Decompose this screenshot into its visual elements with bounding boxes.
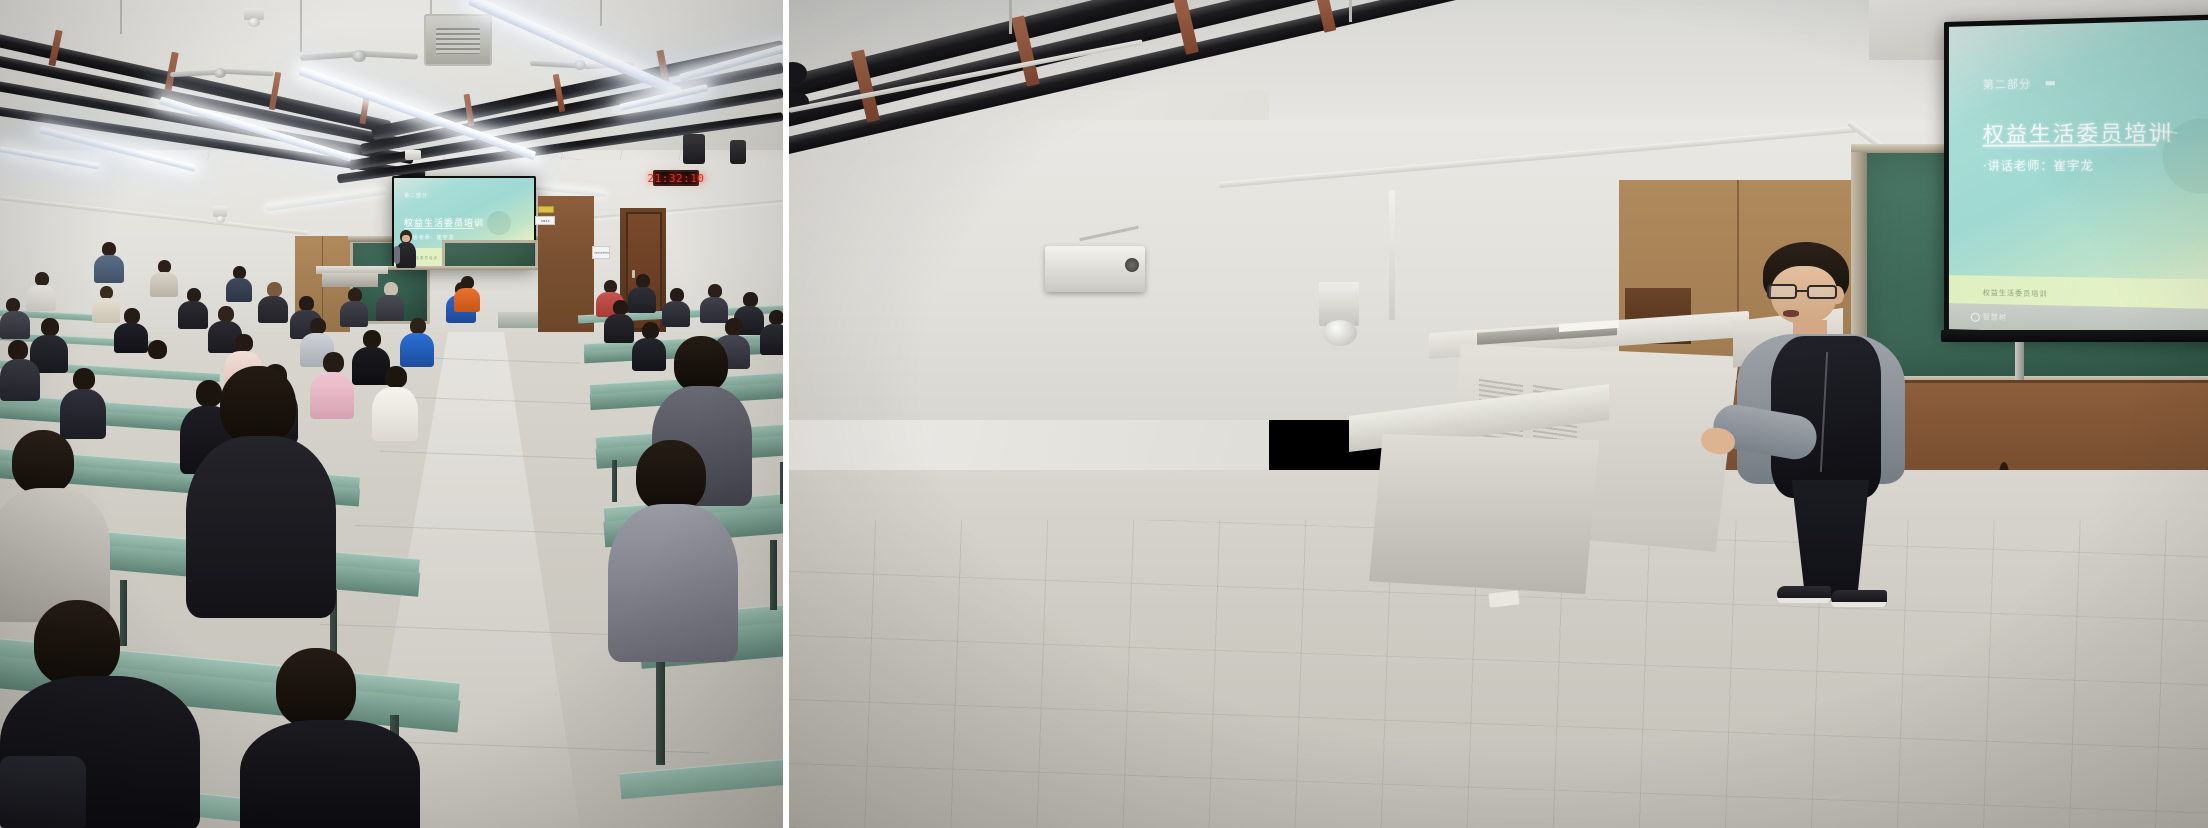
speaker-mouth: [1783, 310, 1799, 317]
fan-blade: [300, 51, 356, 61]
student-head: [410, 318, 426, 334]
student-head: [41, 318, 59, 336]
student-head: [363, 330, 381, 348]
student-body: [26, 285, 56, 311]
student: [662, 288, 690, 326]
camera-dome: [1323, 320, 1357, 346]
slide-bullet: ·讲话老师：崔宇龙: [1983, 156, 2094, 174]
student-head: [276, 648, 356, 728]
camera-dome: [248, 18, 260, 27]
wall-speaker: [683, 134, 705, 164]
hanger-rod: [1009, 0, 1012, 34]
fan-hub: [352, 50, 366, 62]
student-head: [299, 296, 314, 311]
fan-blade: [170, 70, 218, 78]
slide-footer-left: 权益生活委员培训: [1983, 288, 2048, 299]
desk-leg: [770, 540, 777, 610]
shoe-sole: [1831, 602, 1887, 607]
student: [226, 266, 252, 300]
student-head: [124, 308, 140, 324]
left-photo: 第二部分 权益生活委员培训 ·讲话老师：崔宇龙 权益生活委员培训 智慧树 多媒体…: [0, 0, 783, 828]
student-head: [220, 366, 296, 444]
student-foreground: [0, 430, 110, 620]
ceiling-fan: [170, 66, 274, 80]
projection-screen-frame: 第二部分 权益生活委员培训 ·讲话老师：崔宇龙 权益生活委员培训 智慧树: [1944, 12, 2208, 345]
backpack: [0, 756, 86, 828]
fan-hub: [574, 60, 586, 70]
podium-pedestal: [1369, 434, 1599, 594]
hanger-rod: [600, 0, 602, 26]
student-head: [148, 340, 167, 359]
student-head: [73, 368, 95, 390]
ceiling-fan: [300, 48, 420, 64]
student-body: [240, 720, 420, 828]
fan-blade: [224, 69, 274, 77]
front-console-body: [322, 273, 378, 287]
student-head: [8, 340, 28, 360]
presenter-face: [402, 235, 410, 242]
student-head: [725, 318, 743, 336]
desk-leg: [780, 462, 783, 504]
student-head: [102, 242, 116, 256]
slide-logo-icon: [1971, 313, 1980, 322]
speaker: [1719, 242, 1909, 562]
student: [700, 284, 728, 322]
fan-hub: [214, 68, 226, 78]
student-body: [340, 301, 368, 327]
student: [454, 276, 480, 310]
student-body: [760, 324, 783, 355]
student-body: [608, 504, 738, 662]
slide-kicker-marker: [2046, 81, 2055, 85]
hanger-rod: [1349, 0, 1352, 22]
slide-footer-right: 智慧树: [1983, 312, 2007, 323]
student-head: [636, 274, 650, 288]
student-head: [187, 288, 201, 302]
student: [400, 318, 434, 366]
student-head: [670, 288, 684, 302]
student: [0, 298, 30, 338]
slide-kicker: 第二部分: [404, 192, 428, 199]
projection-slide: 第二部分 权益生活委员培训 ·讲话老师：崔宇龙 权益生活委员培训 智慧树: [1949, 17, 2208, 339]
student-head: [218, 306, 234, 322]
student: [150, 260, 178, 296]
projector-lens: [1125, 258, 1139, 272]
student-body: [226, 278, 252, 302]
wall-digital-clock: 21:32:10: [653, 170, 699, 186]
student: [372, 366, 418, 440]
student-head: [384, 282, 398, 296]
student-head: [613, 300, 628, 315]
student: [340, 288, 368, 326]
notice-plate: 多媒体设备使用须知: [592, 246, 610, 259]
student-body: [178, 301, 208, 329]
student: [376, 282, 404, 320]
student: [258, 282, 288, 322]
student: [178, 288, 208, 328]
student-head: [34, 600, 120, 686]
student-foreground: [608, 440, 738, 660]
presenter-sleeve: [394, 246, 400, 264]
student-body: [662, 301, 690, 327]
fan-blade: [530, 61, 578, 69]
student-head: [385, 366, 407, 388]
fan-blade: [360, 50, 418, 59]
student-head: [267, 282, 282, 297]
student-body: [94, 255, 124, 283]
student-body: [136, 358, 176, 399]
student: [604, 300, 634, 342]
security-camera: [405, 150, 421, 160]
front-step: [498, 312, 538, 328]
wall-conduit: [1389, 190, 1395, 320]
glasses-icon: [1767, 284, 1841, 300]
student-body: [400, 333, 434, 367]
student-body: [150, 272, 178, 297]
student-body: [372, 387, 418, 441]
desk-leg: [656, 660, 665, 765]
shoe-sole: [1777, 598, 1831, 603]
student-head: [769, 310, 783, 325]
student-head: [12, 430, 74, 494]
exit-sign: [538, 206, 554, 213]
slide-title-underline: [404, 228, 474, 229]
camera-dome: [216, 216, 225, 223]
student-head: [348, 288, 362, 302]
student: [94, 242, 124, 282]
student-head: [674, 336, 728, 392]
student-body: [258, 296, 288, 323]
presenter-at-podium: [392, 230, 420, 276]
hvac-grille: [436, 28, 480, 54]
hanger-rod: [120, 0, 122, 34]
room-number-text: 315-1-3: [541, 219, 549, 222]
student-body: [186, 436, 336, 618]
right-photo: 第二部分 权益生活委员培训 ·讲话老师：崔宇龙 权益生活委员培训 智慧树 请勿携…: [789, 0, 2208, 828]
student-body: [454, 288, 480, 312]
two-photo-composite: 第二部分 权益生活委员培训 ·讲话老师：崔宇龙 权益生活委员培训 智慧树 多媒体…: [0, 0, 2208, 828]
student: [136, 340, 176, 398]
student: [760, 310, 783, 354]
slide-watermark: [478, 202, 520, 244]
wall-speaker: [730, 140, 746, 164]
slide-kicker: 第二部分: [1983, 75, 2031, 92]
clock-time: 21:32:10: [648, 172, 705, 185]
student-head: [743, 292, 758, 307]
student-body: [0, 359, 40, 401]
student-head: [636, 440, 706, 512]
student-foreground: [240, 648, 420, 828]
student-head: [235, 334, 253, 352]
student: [0, 340, 40, 400]
student: [60, 368, 106, 438]
student-body: [604, 314, 634, 343]
hanger-rod: [300, 0, 302, 52]
notice-plate-text: 多媒体设备使用须知: [594, 251, 609, 253]
student-foreground: [186, 366, 336, 616]
student-body: [0, 311, 30, 339]
student-head: [310, 318, 326, 334]
screen-bottom-bar: [1941, 330, 2208, 342]
screen-stand-leg: [2015, 342, 2024, 380]
slide-watermark: [2137, 92, 2208, 219]
room-number-plate: 315-1-3: [535, 216, 555, 225]
student-head: [35, 272, 49, 286]
student-head: [6, 298, 20, 312]
student: [26, 272, 56, 310]
student-head: [708, 284, 722, 298]
